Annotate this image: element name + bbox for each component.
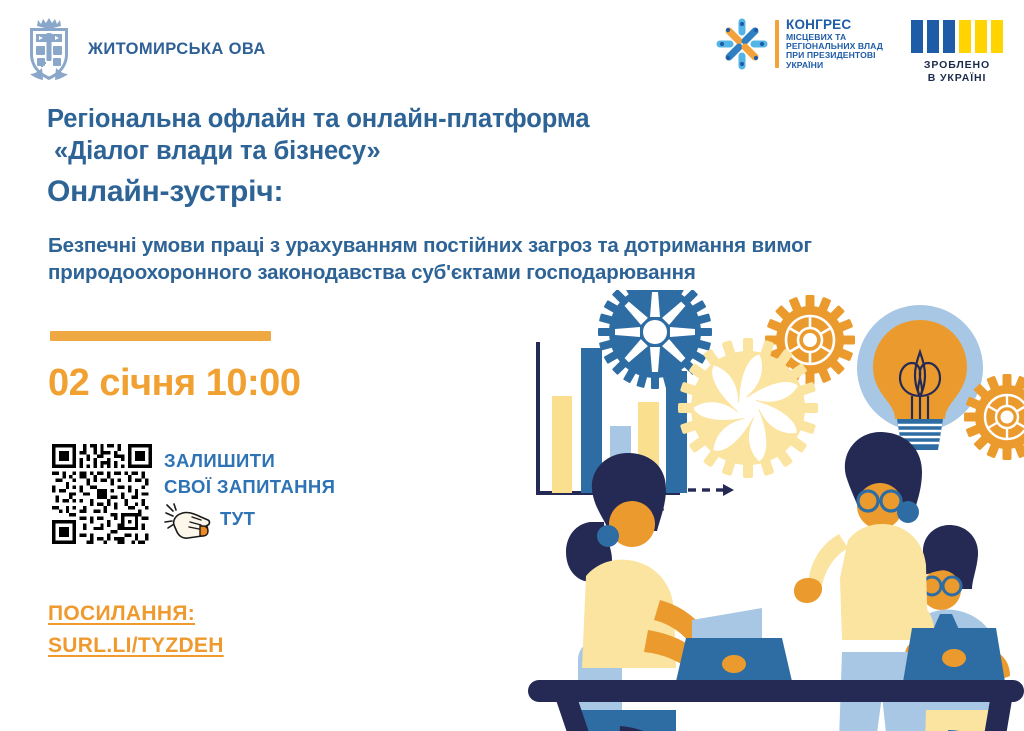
qr-code-icon[interactable] — [52, 444, 152, 544]
qr-instruction-text: ЗАЛИШИТИ СВОЇ ЗАПИТАННЯ — [164, 444, 335, 539]
link-label: ПОСИЛАННЯ: — [48, 598, 224, 630]
registration-link[interactable]: ПОСИЛАННЯ: SURL.LI/TYZDEH — [48, 598, 224, 662]
qr-text-line-2: СВОЇ ЗАПИТАННЯ — [164, 474, 335, 500]
platform-title: Регіональна офлайн та онлайн-платформа «… — [47, 104, 667, 167]
lightbulb-icon — [857, 305, 983, 450]
made-bar-2 — [927, 20, 939, 53]
laptop-left — [674, 608, 794, 690]
congress-text-block: КОНГРЕС МІСЦЕВИХ ТА РЕГІОНАЛЬНИХ ВЛАД ПР… — [786, 18, 883, 70]
made-bar-1 — [911, 20, 923, 53]
congress-logo: КОНГРЕС МІСЦЕВИХ ТА РЕГІОНАЛЬНИХ ВЛАД ПР… — [716, 18, 883, 70]
poster-canvas: ЖИТОМИРСЬКА ОВА — [0, 0, 1024, 731]
qr-text-line-3: ТУТ — [220, 506, 255, 532]
made-in-ukraine-logo: ЗРОБЛЕНО В УКРАЇНІ — [905, 20, 1009, 85]
header-left-branding: ЖИТОМИРСЬКА ОВА — [22, 16, 266, 82]
platform-title-line-1: Регіональна офлайн та онлайн-платформа — [47, 104, 667, 136]
topic-text: Безпечні умови праці з урахуванням пості… — [48, 233, 928, 286]
event-date-time: 02 січня 10:00 — [48, 362, 300, 405]
made-in-ukraine-bars — [905, 20, 1009, 53]
made-bar-4 — [959, 20, 971, 53]
qr-section: ЗАЛИШИТИ СВОЇ ЗАПИТАННЯ — [52, 444, 335, 544]
meeting-title: Онлайн-зустріч: — [47, 175, 283, 209]
orange-divider — [50, 331, 271, 341]
congress-line-1: КОНГРЕС — [786, 18, 883, 33]
made-bar-6 — [991, 20, 1003, 53]
ova-label: ЖИТОМИРСЬКА ОВА — [88, 40, 266, 59]
link-url[interactable]: SURL.LI/TYZDEH — [48, 630, 224, 662]
made-line-1: ЗРОБЛЕНО — [905, 59, 1009, 72]
made-in-ukraine-text: ЗРОБЛЕНО В УКРАЇНІ — [905, 59, 1009, 85]
made-bar-3 — [943, 20, 955, 53]
made-line-2: В УКРАЇНІ — [905, 72, 1009, 85]
congress-divider — [775, 20, 779, 68]
congress-emblem-icon — [716, 18, 768, 70]
laptop-right — [902, 628, 1006, 688]
qr-text-line-3-row: ТУТ — [164, 501, 335, 539]
pointing-hand-icon — [164, 501, 218, 539]
made-bar-5 — [975, 20, 987, 53]
zhytomyr-coat-of-arms-icon — [22, 16, 76, 82]
congress-line-5: УКРАЇНИ — [786, 61, 883, 70]
platform-title-line-2: «Діалог влади та бізнесу» — [47, 136, 667, 168]
team-meeting-illustration — [520, 290, 1024, 731]
qr-text-line-1: ЗАЛИШИТИ — [164, 448, 335, 474]
